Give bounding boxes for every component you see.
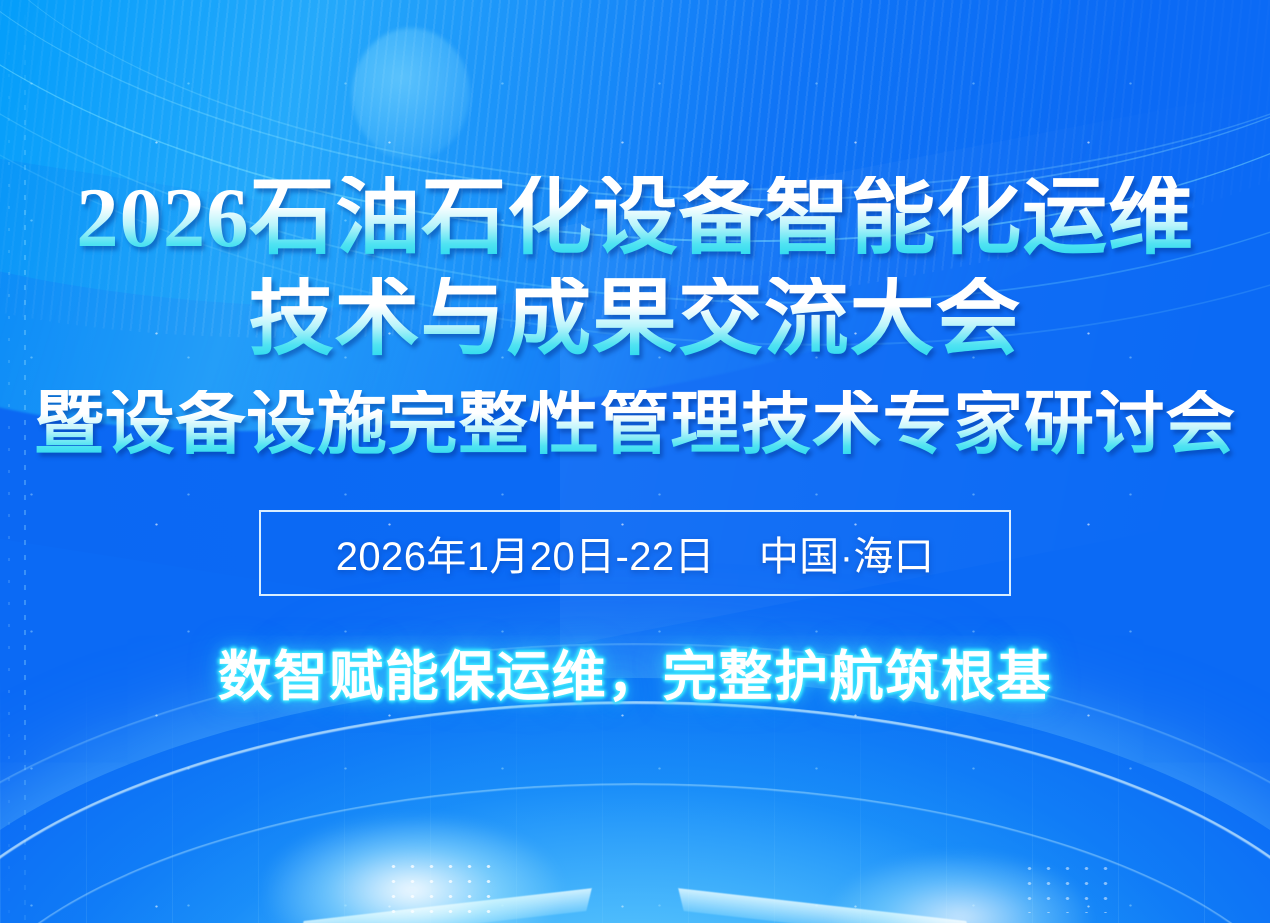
poster-subtitle: 暨设备设施完整性管理技术专家研讨会 — [34, 390, 1236, 460]
date-location-box: 2026年1月20日-22日 中国·海口 — [259, 510, 1011, 596]
conference-poster: 2026石油石化设备智能化运维 技术与成果交流大会 暨设备设施完整性管理技术专家… — [0, 0, 1270, 923]
event-location: 中国·海口 — [759, 524, 934, 582]
event-date: 2026年1月20日-22日 — [336, 524, 715, 582]
poster-slogan: 数智赋能保运维，完整护航筑根基 — [218, 632, 1052, 711]
poster-content: 2026石油石化设备智能化运维 技术与成果交流大会 暨设备设施完整性管理技术专家… — [0, 0, 1270, 923]
main-title-line-1: 2026石油石化设备智能化运维 — [76, 176, 1194, 261]
main-title-line-2: 技术与成果交流大会 — [249, 277, 1022, 362]
